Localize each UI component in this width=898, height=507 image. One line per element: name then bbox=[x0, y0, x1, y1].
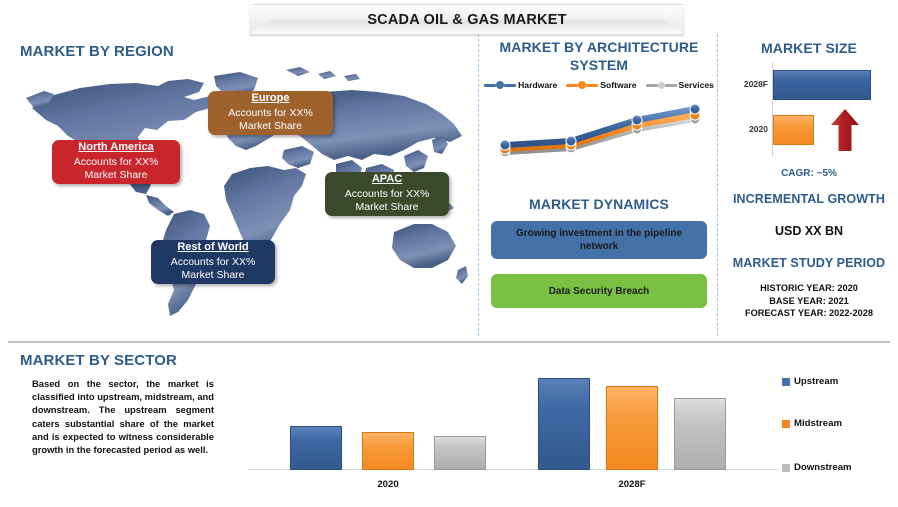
sector-bar-2028f-upstream[interactable] bbox=[538, 378, 590, 470]
legend-line-services-icon bbox=[646, 84, 658, 87]
market-dynamic-label: Data Security Breach bbox=[549, 285, 650, 298]
market-by-region-heading: MARKET BY REGION bbox=[20, 43, 174, 60]
study-period-base-year: BASE YEAR: 2021 bbox=[720, 295, 898, 308]
market-by-sector-heading: MARKET BY SECTOR bbox=[20, 352, 177, 369]
market-size-heading: MARKET SIZE bbox=[720, 40, 898, 56]
sector-legend-label: Downstream bbox=[794, 462, 852, 473]
market-by-sector-section: MARKET BY SECTOR Based on the sector, th… bbox=[0, 344, 898, 507]
region-name: APAC bbox=[372, 173, 402, 188]
incremental-growth-heading: INCREMENTAL GROWTH bbox=[720, 192, 898, 206]
sector-x-label-2020: 2020 bbox=[290, 479, 486, 490]
market-size-section: MARKET SIZE 2028F 2020 CAGR: ~5% IN bbox=[720, 36, 898, 336]
legend-swatch-upstream-icon bbox=[782, 378, 790, 386]
region-box-europe[interactable]: Europe Accounts for XX% Market Share bbox=[208, 91, 333, 135]
region-name: North America bbox=[78, 141, 153, 156]
region-share-line2: Market Share bbox=[355, 201, 418, 215]
cagr-label: CAGR: ~5% bbox=[720, 168, 898, 179]
region-share-line1: Accounts for XX% bbox=[345, 188, 430, 202]
sector-x-label-2028f: 2028F bbox=[538, 479, 726, 490]
market-size-bar-2020[interactable] bbox=[773, 115, 814, 145]
market-by-sector-bar-chart: 2020 2028F bbox=[248, 362, 778, 492]
region-box-rest-of-world[interactable]: Rest of World Accounts for XX% Market Sh… bbox=[151, 240, 275, 284]
market-dynamic-label: Growing investment in the pipeline netwo… bbox=[501, 227, 697, 253]
incremental-growth-value: USD XX BN bbox=[720, 224, 898, 238]
market-dynamic-item-data-security-breach[interactable]: Data Security Breach bbox=[491, 274, 707, 308]
sector-legend-label: Upstream bbox=[794, 376, 838, 387]
sector-legend-label: Midstream bbox=[794, 418, 842, 429]
architecture-heading-line2: SYSTEM bbox=[483, 56, 715, 74]
region-share-line1: Accounts for XX% bbox=[171, 256, 256, 270]
divider-horizontal bbox=[8, 341, 890, 343]
sector-bar-2020-downstream[interactable] bbox=[434, 436, 486, 470]
region-box-apac[interactable]: APAC Accounts for XX% Market Share bbox=[325, 172, 449, 216]
legend-item-software[interactable]: Software bbox=[566, 80, 636, 90]
legend-label: Services bbox=[679, 80, 714, 90]
region-name: Europe bbox=[252, 92, 290, 107]
up-arrow-icon bbox=[830, 108, 860, 152]
market-by-architecture-section: MARKET BY ARCHITECTURE SYSTEM Hardware S… bbox=[483, 36, 715, 336]
sector-bar-2028f-downstream[interactable] bbox=[674, 398, 726, 470]
market-size-bar-chart: 2028F 2020 bbox=[726, 62, 898, 160]
legend-line-software-icon-2 bbox=[586, 84, 598, 87]
page-title: SCADA OIL & GAS MARKET bbox=[251, 5, 683, 34]
sector-bar-2020-midstream[interactable] bbox=[362, 432, 414, 470]
market-by-architecture-heading: MARKET BY ARCHITECTURE SYSTEM bbox=[483, 38, 715, 74]
architecture-legend: Hardware Software Services bbox=[483, 80, 715, 90]
region-share-line1: Accounts for XX% bbox=[74, 156, 159, 170]
legend-line-hardware-icon bbox=[484, 84, 496, 87]
market-size-category-2028f: 2028F bbox=[726, 79, 768, 89]
legend-swatch-midstream-icon bbox=[782, 420, 790, 428]
sector-legend-item-upstream[interactable]: Upstream bbox=[782, 376, 838, 387]
legend-item-hardware[interactable]: Hardware bbox=[484, 80, 557, 90]
market-by-region-section: MARKET BY REGION bbox=[0, 36, 478, 336]
region-name: Rest of World bbox=[177, 241, 248, 256]
infographic-page: SCADA OIL & GAS MARKET MARKET BY REGION bbox=[0, 0, 898, 507]
market-dynamics-heading: MARKET DYNAMICS bbox=[483, 196, 715, 212]
legend-item-services[interactable]: Services bbox=[646, 80, 714, 90]
study-period-historic-year: HISTORIC YEAR: 2020 bbox=[720, 282, 898, 295]
world-map: North America Accounts for XX% Market Sh… bbox=[18, 64, 470, 328]
legend-marker-services-icon bbox=[658, 82, 665, 89]
sector-bar-2020-upstream[interactable] bbox=[290, 426, 342, 470]
legend-marker-software-icon bbox=[578, 81, 586, 89]
legend-line-services-icon-2 bbox=[665, 84, 677, 87]
region-share-line2: Market Share bbox=[239, 120, 302, 134]
region-box-north-america[interactable]: North America Accounts for XX% Market Sh… bbox=[52, 140, 180, 184]
market-dynamic-item-growing-investment[interactable]: Growing investment in the pipeline netwo… bbox=[491, 221, 707, 259]
market-study-period-heading: MARKET STUDY PERIOD bbox=[720, 256, 898, 270]
title-banner: SCADA OIL & GAS MARKET bbox=[250, 4, 684, 35]
region-share-line1: Accounts for XX% bbox=[228, 107, 313, 121]
architecture-heading-line1: MARKET BY ARCHITECTURE bbox=[483, 38, 715, 56]
sector-legend-item-downstream[interactable]: Downstream bbox=[782, 462, 852, 473]
region-share-line2: Market Share bbox=[84, 169, 147, 183]
sector-bar-2028f-midstream[interactable] bbox=[606, 386, 658, 470]
study-period-forecast-year: FORECAST YEAR: 2022-2028 bbox=[720, 307, 898, 320]
legend-label: Software bbox=[600, 80, 636, 90]
region-share-line2: Market Share bbox=[181, 269, 244, 283]
legend-swatch-downstream-icon bbox=[782, 464, 790, 472]
market-study-period-details: HISTORIC YEAR: 2020 BASE YEAR: 2021 FORE… bbox=[720, 282, 898, 320]
legend-marker-hardware-icon bbox=[496, 81, 504, 89]
divider-vertical-right bbox=[717, 34, 718, 336]
legend-line-software-icon bbox=[566, 84, 578, 87]
market-size-bar-2028f[interactable] bbox=[773, 70, 871, 100]
divider-vertical-left bbox=[478, 34, 479, 336]
legend-label: Hardware bbox=[518, 80, 557, 90]
architecture-line-chart bbox=[489, 98, 709, 166]
market-by-sector-description: Based on the sector, the market is class… bbox=[32, 377, 214, 456]
sector-legend-item-midstream[interactable]: Midstream bbox=[782, 418, 842, 429]
sector-legend: Upstream Midstream Downstream bbox=[782, 370, 898, 488]
legend-line-hardware-icon-2 bbox=[504, 84, 516, 87]
market-size-category-2020: 2020 bbox=[726, 124, 768, 134]
